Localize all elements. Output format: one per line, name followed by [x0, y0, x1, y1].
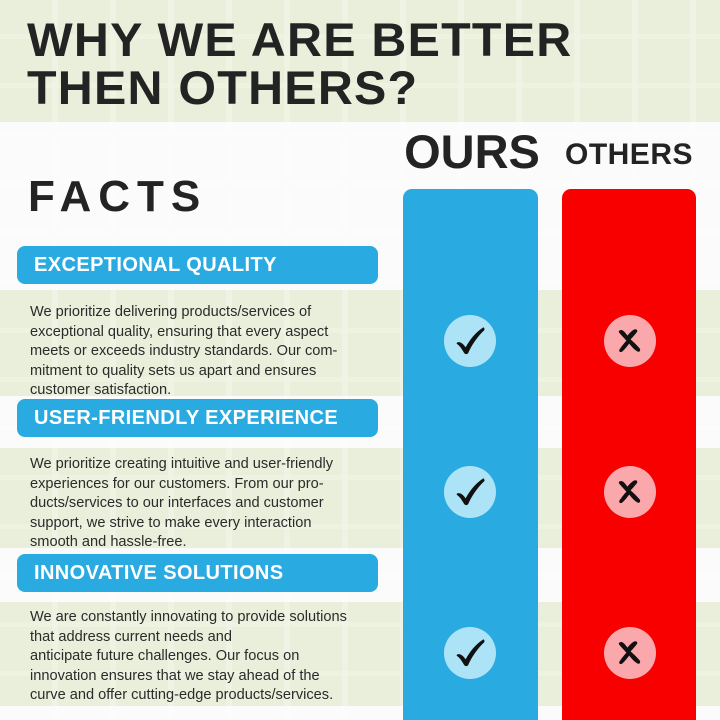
- facts-heading: FACTS: [28, 173, 207, 221]
- cross-icon: [604, 315, 656, 367]
- column-header-ours: OURS: [392, 126, 552, 178]
- fact-badge-label: USER-FRIENDLY EXPERIENCE: [34, 408, 338, 428]
- cross-icon: [604, 627, 656, 679]
- column-header-others: OTHERS: [556, 137, 702, 173]
- fact-badge-exceptional-quality[interactable]: EXCEPTIONAL QUALITY: [17, 246, 378, 284]
- check-icon: [444, 627, 496, 679]
- fact-body-exceptional-quality: We prioritize delivering products/servic…: [30, 303, 402, 401]
- cross-icon: [604, 466, 656, 518]
- comparison-infographic: WHY WE ARE BETTER THEN OTHERS? FACTS OUR…: [0, 0, 720, 720]
- fact-badge-label: EXCEPTIONAL QUALITY: [34, 255, 277, 275]
- check-icon: [444, 315, 496, 367]
- fact-badge-user-friendly-experience[interactable]: USER-FRIENDLY EXPERIENCE: [17, 399, 378, 437]
- fact-badge-innovative-solutions[interactable]: INNOVATIVE SOLUTIONS: [17, 554, 378, 592]
- fact-body-user-friendly-experience: We prioritize creating intuitive and use…: [30, 455, 402, 553]
- fact-badge-label: INNOVATIVE SOLUTIONS: [34, 563, 284, 583]
- page-title: WHY WE ARE BETTER THEN OTHERS?: [27, 16, 686, 112]
- check-icon: [444, 466, 496, 518]
- fact-body-innovative-solutions: We are constantly innovating to provide …: [30, 608, 402, 706]
